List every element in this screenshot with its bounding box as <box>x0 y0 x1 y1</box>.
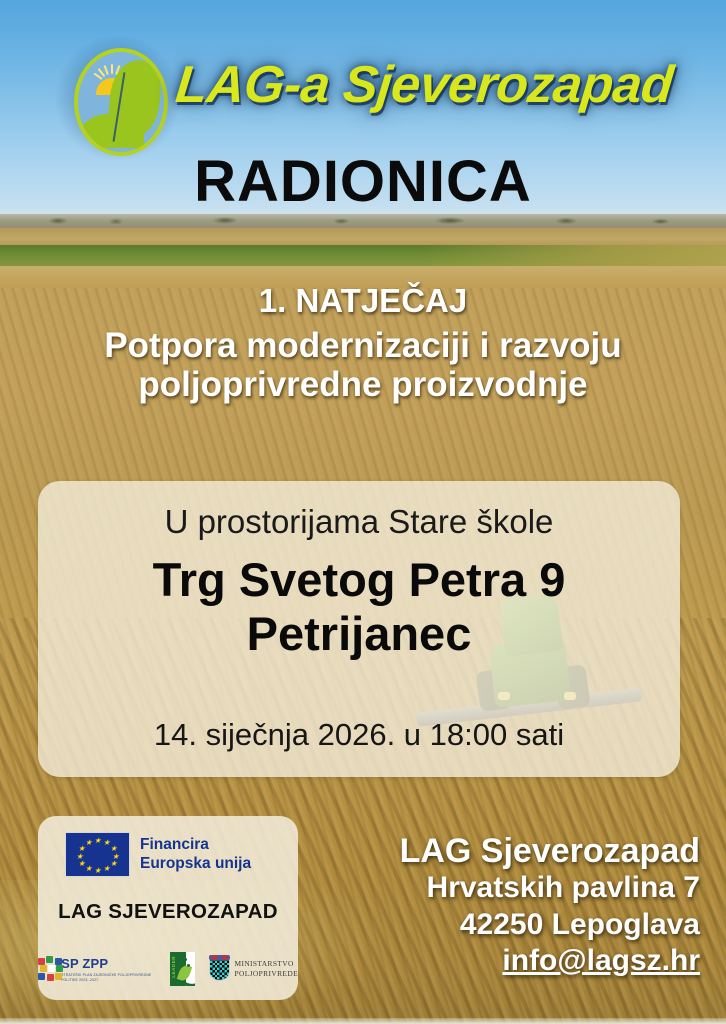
poster-bottom-edge <box>0 1018 726 1024</box>
logo-ring <box>74 48 168 156</box>
call-subject-line-1: Potpora modernizaciji i razvoju <box>0 326 726 365</box>
background-green-field <box>0 245 726 267</box>
eu-funding-row: ★ ★ ★ ★ ★ ★ ★ ★ ★ ★ ★ ★ Financira Europs… <box>65 832 251 877</box>
partner-logos-row: SP ZPP STRATEŠKI PLAN ZAJEDNIČKE POLJOPR… <box>38 952 298 986</box>
sp-zpp-mark <box>38 956 57 982</box>
event-info-card: U prostorijama Stare škole Trg Svetog Pe… <box>38 481 680 777</box>
background-far-field <box>0 228 726 246</box>
leader-logo-icon: LEADER <box>170 952 195 986</box>
contact-email[interactable]: info@lagsz.hr <box>280 943 700 980</box>
page-title: RADIONICA <box>0 148 726 215</box>
eu-funding-line-2: Europska unija <box>140 855 251 874</box>
eu-funding-text: Financira Europska unija <box>140 836 251 873</box>
sp-zpp-subtitle: STRATEŠKI PLAN ZAJEDNIČKE POLJOPRIVREDNE… <box>61 973 156 982</box>
call-number: 1. NATJEČAJ <box>0 283 726 320</box>
lag-sun-leaf-logo-icon <box>62 42 174 154</box>
venue-address: Trg Svetog Petra 9 Petrijanec <box>38 553 680 660</box>
sp-zpp-name: SP ZPP <box>61 956 108 971</box>
call-subject-line-2: poljoprivredne proizvodnje <box>0 365 726 404</box>
leader-dots <box>178 957 190 969</box>
venue-intro: U prostorijama Stare škole <box>38 503 680 541</box>
sp-zpp-logo-icon: SP ZPP STRATEŠKI PLAN ZAJEDNIČKE POLJOPR… <box>38 956 156 982</box>
contact-block: LAG Sjeverozapad Hrvatskih pavlina 7 422… <box>280 832 700 980</box>
leader-wordmark: LEADER <box>171 956 176 978</box>
poster-canvas: LAG-a Sjeverozapad RADIONICA 1. NATJEČAJ… <box>0 0 726 1024</box>
call-block: 1. NATJEČAJ Potpora modernizaciji i razv… <box>0 283 726 404</box>
croatian-coat-of-arms-icon <box>209 957 230 981</box>
venue-address-line-2: Petrijanec <box>38 607 680 661</box>
venue-address-line-1: Trg Svetog Petra 9 <box>38 553 680 607</box>
organization-brand-title: LAG-a Sjeverozapad <box>173 55 676 115</box>
sp-zpp-text: SP ZPP STRATEŠKI PLAN ZAJEDNIČKE POLJOPR… <box>61 956 156 982</box>
event-datetime: 14. siječnja 2026. u 18:00 sati <box>38 717 680 753</box>
eu-flag-icon: ★ ★ ★ ★ ★ ★ ★ ★ ★ ★ ★ ★ <box>65 832 130 877</box>
eu-funding-line-1: Financira <box>140 836 251 855</box>
contact-street: Hrvatskih pavlina 7 <box>280 870 700 907</box>
funding-lag-name: LAG SJEVEROZAPAD <box>38 900 298 924</box>
contact-city: 42250 Lepoglava <box>280 907 700 944</box>
funding-card: ★ ★ ★ ★ ★ ★ ★ ★ ★ ★ ★ ★ Financira Europs… <box>38 816 298 1000</box>
contact-name: LAG Sjeverozapad <box>280 832 700 870</box>
